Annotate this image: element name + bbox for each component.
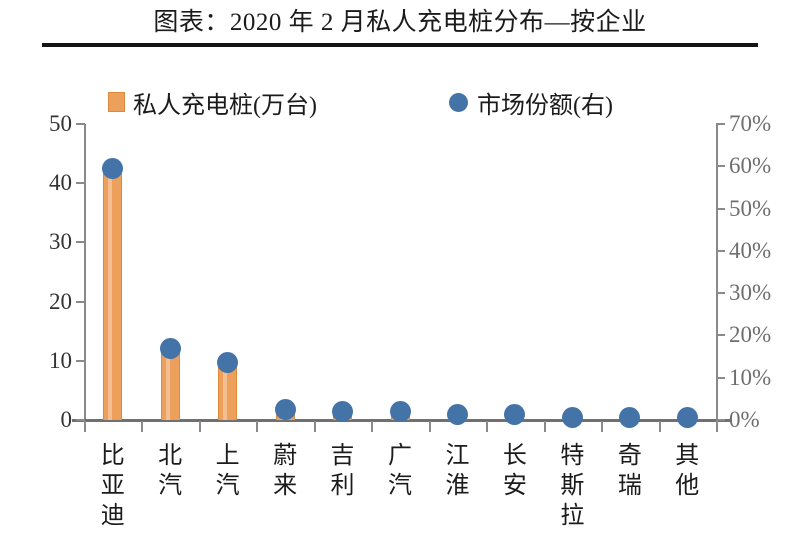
marker-比亚迪[interactable]	[102, 158, 123, 179]
y-axis-right-tick-label: 10%	[729, 366, 799, 389]
y-axis-left-tick-label: 40	[12, 171, 72, 194]
x-axis-tick	[544, 421, 546, 432]
marker-江淮[interactable]	[447, 404, 468, 425]
x-axis-label-江淮: 江淮	[433, 441, 481, 501]
title-block: 图表：2020 年 2 月私人充电桩分布—按企业	[0, 0, 800, 52]
x-axis-label-奇瑞: 奇瑞	[606, 441, 654, 501]
x-axis-tick	[141, 421, 143, 432]
x-axis-tick	[199, 421, 201, 432]
bar-highlight	[223, 367, 227, 420]
legend-item-label: 市场份额(右)	[477, 85, 613, 120]
x-axis-label-广汽: 广汽	[376, 441, 424, 501]
marker-北汽[interactable]	[160, 338, 181, 359]
x-axis-tick	[371, 421, 373, 432]
x-axis-label-比亚迪: 比亚迪	[89, 441, 137, 531]
x-axis-tick	[84, 421, 86, 432]
y-axis-left-tick-label: 0	[12, 408, 72, 431]
bar-北汽[interactable]	[161, 353, 180, 420]
x-axis-tick	[659, 421, 661, 432]
legend-item-private-chargers[interactable]: 私人充电桩(万台)	[108, 86, 317, 118]
x-axis-tick	[716, 421, 718, 432]
y-axis-left-tick-label: 50	[12, 112, 72, 135]
y-axis-right-tick-label: 20%	[729, 323, 799, 346]
marker-蔚来[interactable]	[275, 399, 296, 420]
marker-吉利[interactable]	[332, 401, 353, 422]
x-axis-tick	[429, 421, 431, 432]
chart-legend: 私人充电桩(万台) 市场份额(右)	[0, 86, 800, 118]
marker-特斯拉[interactable]	[562, 407, 583, 428]
x-axis-label-长安: 长安	[491, 441, 539, 501]
x-axis-label-蔚来: 蔚来	[261, 441, 309, 501]
legend-circle-dot-icon	[449, 93, 468, 112]
x-axis-label-特斯拉: 特斯拉	[548, 441, 596, 531]
bar-比亚迪[interactable]	[103, 171, 122, 420]
y-axis-right-tick-label: 40%	[729, 239, 799, 262]
y-axis-right-tick-label: 50%	[729, 197, 799, 220]
y-axis-right-tick-label: 70%	[729, 112, 799, 135]
y-axis-right-tick-label: 60%	[729, 154, 799, 177]
x-axis-tick	[314, 421, 316, 432]
bar-highlight	[166, 354, 170, 420]
x-axis-label-上汽: 上汽	[204, 441, 252, 501]
marker-广汽[interactable]	[390, 401, 411, 422]
page-title: 图表：2020 年 2 月私人充电桩分布—按企业	[42, 6, 758, 40]
x-axis-label-北汽: 北汽	[146, 441, 194, 501]
y-axis-left-tick-label: 20	[12, 290, 72, 313]
legend-square-swatch-icon	[108, 92, 125, 112]
y-axis-left-tick-label: 30	[12, 230, 72, 253]
legend-item-label: 私人充电桩(万台)	[133, 85, 317, 120]
plot-area	[84, 124, 718, 420]
x-axis-tick	[486, 421, 488, 432]
marker-其他[interactable]	[677, 407, 698, 428]
y-axis-right-tick-label: 0%	[729, 408, 799, 431]
legend-item-market-share[interactable]: 市场份额(右)	[449, 86, 613, 118]
y-axis-left-tick-label: 10	[12, 349, 72, 372]
marker-上汽[interactable]	[217, 352, 238, 373]
x-axis-label-吉利: 吉利	[319, 441, 367, 501]
marker-长安[interactable]	[504, 404, 525, 425]
marker-奇瑞[interactable]	[619, 407, 640, 428]
x-axis-tick	[256, 421, 258, 432]
bar-highlight	[108, 172, 112, 420]
x-axis-label-其他: 其他	[663, 441, 711, 501]
x-axis-tick	[601, 421, 603, 432]
bar-上汽[interactable]	[218, 366, 237, 420]
title-divider	[42, 43, 758, 47]
y-axis-right-tick-label: 30%	[729, 281, 799, 304]
